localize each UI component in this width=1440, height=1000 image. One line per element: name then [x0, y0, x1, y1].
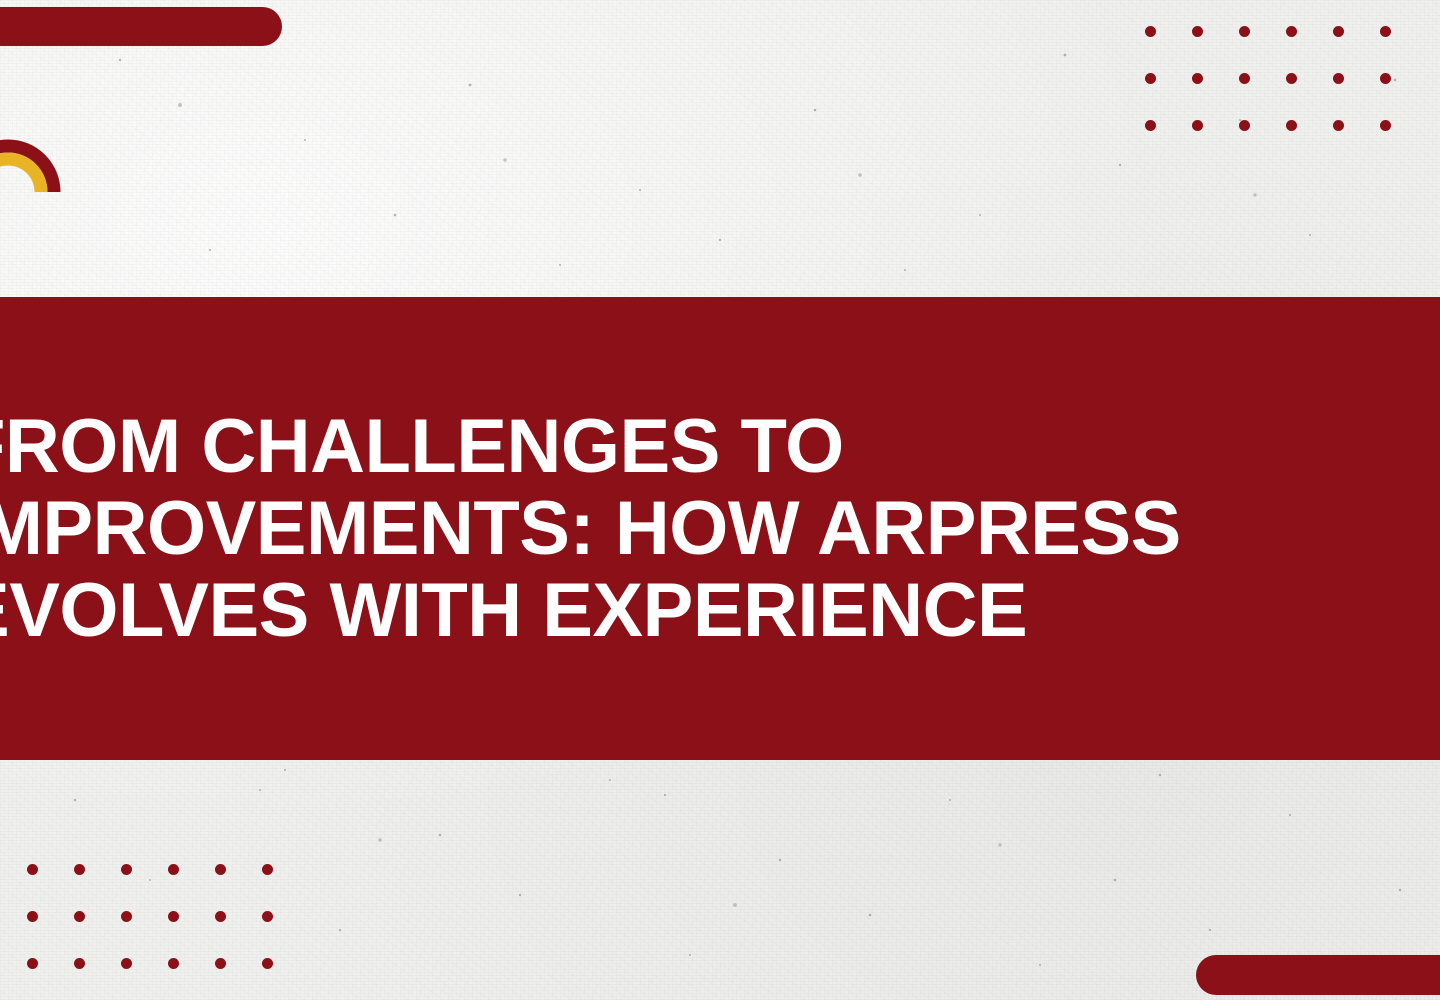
grid-dot [121, 911, 132, 922]
grid-dot [27, 911, 38, 922]
grid-dot [1239, 73, 1250, 84]
grid-dot [1333, 120, 1344, 131]
grid-dot [215, 864, 226, 875]
grid-dot [1286, 26, 1297, 37]
grid-dot [74, 911, 85, 922]
title-line-3: EVOLVES WITH EXPERIENCE [0, 570, 1440, 652]
grid-dot [262, 958, 273, 969]
top-left-pill-bar [0, 7, 282, 46]
grid-dot [1192, 73, 1203, 84]
poster-canvas: ss FROM CHALLENGES TO IMPROVEMENTS: HOW … [0, 0, 1440, 1000]
grid-dot [27, 864, 38, 875]
title-line-1: FROM CHALLENGES TO [0, 406, 1440, 488]
grid-dot [262, 911, 273, 922]
grid-dot [1239, 26, 1250, 37]
title-line-2: IMPROVEMENTS: HOW ARPRESS [0, 488, 1440, 570]
grid-dot [27, 958, 38, 969]
grid-dot [1333, 73, 1344, 84]
grid-dot [215, 958, 226, 969]
grid-dot [1333, 26, 1344, 37]
grid-dot [262, 864, 273, 875]
logo-wordmark: ss [0, 189, 74, 218]
bottom-left-dot-grid [27, 864, 309, 1000]
grid-dot [1192, 120, 1203, 131]
grid-dot [1145, 120, 1156, 131]
grid-dot [1380, 120, 1391, 131]
arpress-logo[interactable]: ss [0, 92, 74, 232]
grid-dot [1380, 73, 1391, 84]
top-right-dot-grid [1145, 26, 1427, 167]
grid-dot [74, 864, 85, 875]
grid-dot [74, 958, 85, 969]
title-banner: FROM CHALLENGES TO IMPROVEMENTS: HOW ARP… [0, 297, 1440, 760]
grid-dot [168, 911, 179, 922]
grid-dot [168, 864, 179, 875]
grid-dot [121, 958, 132, 969]
grid-dot [168, 958, 179, 969]
grid-dot [1380, 26, 1391, 37]
page-title: FROM CHALLENGES TO IMPROVEMENTS: HOW ARP… [0, 406, 1440, 652]
grid-dot [1145, 26, 1156, 37]
grid-dot [1286, 73, 1297, 84]
bottom-right-pill-bar [1196, 955, 1440, 995]
grid-dot [1239, 120, 1250, 131]
grid-dot [1192, 26, 1203, 37]
grid-dot [215, 911, 226, 922]
grid-dot [1145, 73, 1156, 84]
grid-dot [121, 864, 132, 875]
grid-dot [1286, 120, 1297, 131]
rainbow-arc-icon [0, 92, 74, 197]
